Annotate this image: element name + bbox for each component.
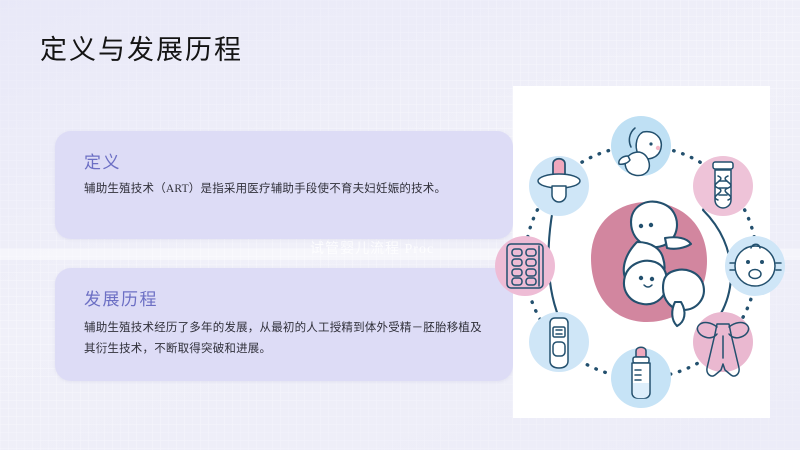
fetus-body	[625, 152, 649, 175]
dna-test-tube-icon[interactable]	[693, 156, 753, 216]
illustration-panel: .ln { fill:none; stroke:#23506e; stroke-…	[513, 86, 770, 418]
pill-blister-icon[interactable]	[495, 236, 555, 296]
pregnancy-test-body	[550, 318, 568, 368]
bottle-milk	[633, 383, 649, 398]
twin-a-eye-right	[649, 223, 653, 227]
twin-b-eye-right	[650, 277, 654, 281]
twin-b-eye-left	[639, 276, 643, 280]
baby-eye-left	[746, 260, 750, 264]
uterus-icon[interactable]	[693, 312, 753, 376]
twin-b-leg	[672, 302, 684, 326]
card-definition-body: 辅助生殖技术（ART）是指采用医疗辅助手段使不育夫妇妊娠的技术。	[84, 179, 489, 200]
twin-a-arm	[665, 237, 691, 249]
pacifier-teat	[552, 186, 566, 202]
card-history-body: 辅助生殖技术经历了多年的发展，从最初的人工授精到体外受精－胚胎移植及其衍生技术，…	[84, 318, 489, 360]
twin-a-eye-left	[639, 224, 643, 228]
baby-face-icon[interactable]	[725, 236, 785, 296]
fetus-icon[interactable]	[611, 116, 671, 176]
bottle-nipple	[636, 347, 646, 357]
twin-b-head	[624, 261, 667, 304]
baby-eye-right	[760, 260, 764, 264]
assisted-reproduction-cycle-illustration: .ln { fill:none; stroke:#23506e; stroke-…	[495, 86, 787, 418]
card-definition-heading: 定义	[84, 148, 121, 173]
card-history[interactable]: 发展历程 辅助生殖技术经历了多年的发展，从最初的人工授精到体外受精－胚胎移植及其…	[55, 268, 513, 381]
slide-canvas: 定义与发展历程 定义 辅助生殖技术（ART）是指采用医疗辅助手段使不育夫妇妊娠的…	[0, 0, 800, 450]
watermark-text: 试管婴儿流程 Proc	[310, 238, 434, 258]
twin-b-body	[663, 270, 704, 310]
pregnancy-test-icon[interactable]	[529, 312, 589, 372]
fetus-cheek	[656, 146, 660, 150]
card-history-heading: 发展历程	[84, 285, 158, 310]
page-title: 定义与发展历程	[40, 28, 243, 67]
pacifier-icon[interactable]	[529, 156, 589, 216]
test-tube-cap	[713, 162, 733, 169]
bottle-collar	[633, 357, 649, 363]
card-definition[interactable]: 定义 辅助生殖技术（ART）是指采用医疗辅助手段使不育夫妇妊娠的技术。	[55, 131, 513, 239]
baby-bottle-icon[interactable]	[611, 347, 671, 408]
baby-head	[735, 246, 775, 286]
pill-blister-circle	[495, 236, 555, 296]
fetus-eye	[649, 142, 652, 145]
